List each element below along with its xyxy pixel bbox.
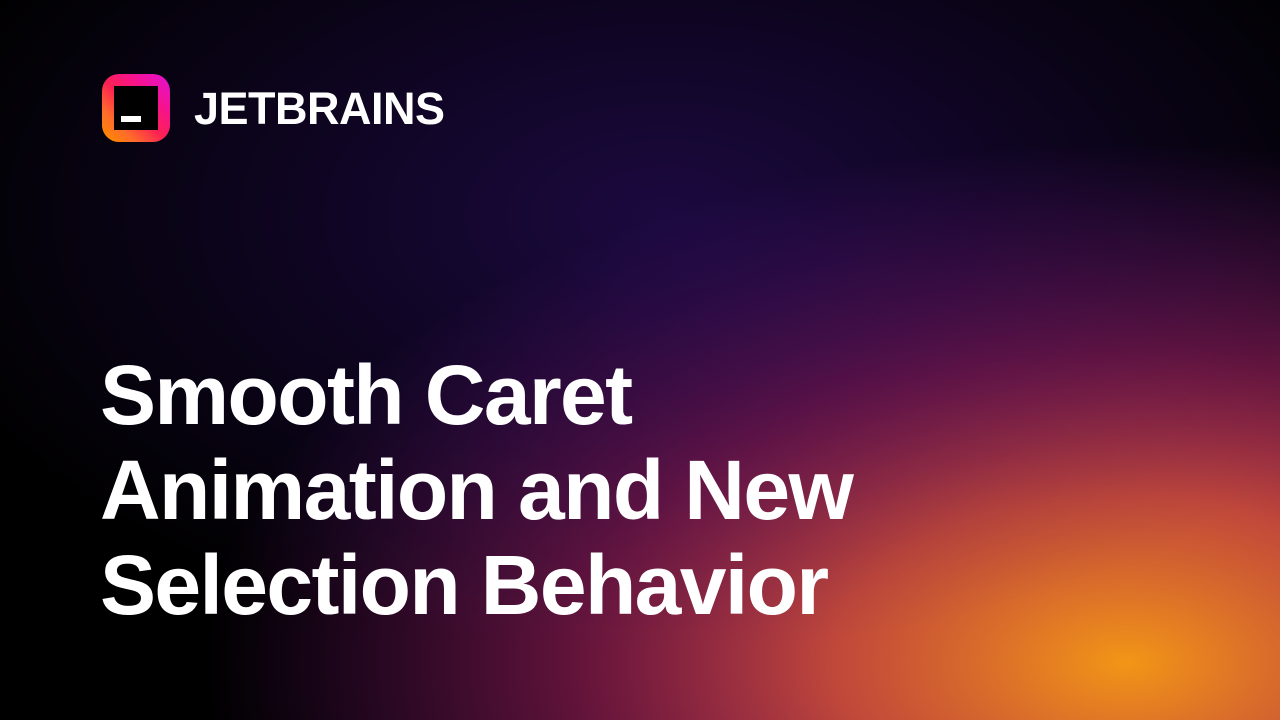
page-title-line-3: Selection Behavior — [100, 538, 852, 633]
page-title: Smooth Caret Animation and New Selection… — [100, 348, 852, 633]
jetbrains-promo-banner: JETBRAINS Smooth Caret Animation and New… — [0, 0, 1280, 720]
jetbrains-wordmark: JETBRAINS — [194, 86, 445, 131]
jetbrains-logo-icon — [100, 72, 172, 144]
page-title-line-2: Animation and New — [100, 443, 852, 538]
jetbrains-logo-lockup: JETBRAINS — [100, 72, 445, 144]
page-title-line-1: Smooth Caret — [100, 348, 852, 443]
